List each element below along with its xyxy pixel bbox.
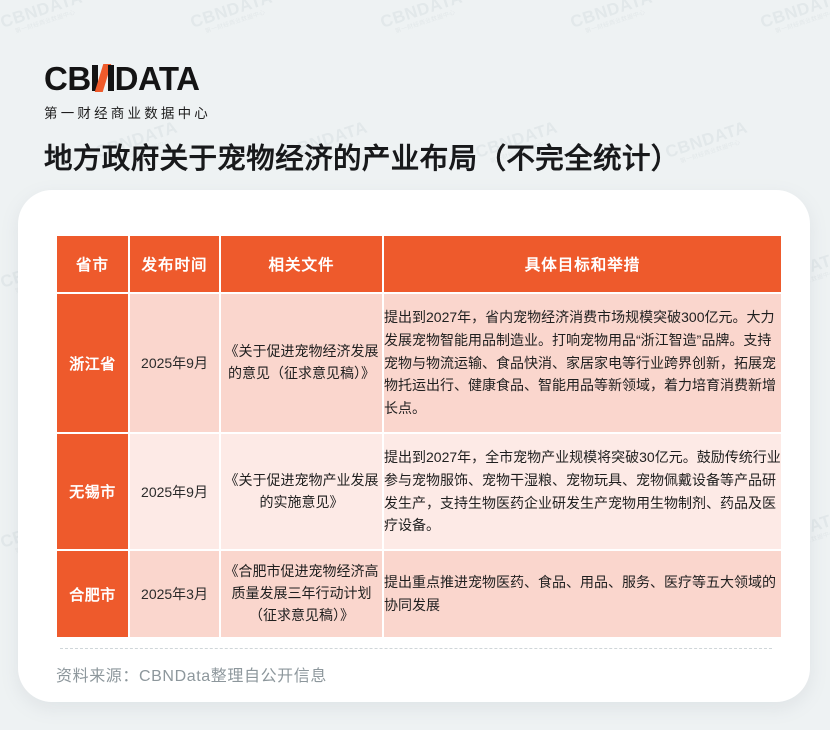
table-row: 无锡市 2025年9月 《关于促进宠物产业发展的实施意见》 提出到2027年，全… [57,432,781,549]
policy-table: 省市 发布时间 相关文件 具体目标和举措 浙江省 2025年9月 《关于促进宠物… [57,236,781,637]
cell-document: 《合肥市促进宠物经济高质量发展三年行动计划（征求意见稿）》 [221,549,384,637]
cell-province: 浙江省 [57,292,130,432]
column-header-document: 相关文件 [221,236,384,292]
column-header-date: 发布时间 [130,236,221,292]
logo-text-suffix: DATA [115,62,200,95]
cell-measures: 提出到2027年，省内宠物经济消费市场规模突破300亿元。大力发展宠物智能用品制… [384,292,781,432]
logo-wordmark: CB DATA [44,62,211,95]
cell-document: 《关于促进宠物产业发展的实施意见》 [221,432,384,549]
cell-measures: 提出到2027年，全市宠物产业规模将突破30亿元。鼓励传统行业参与宠物服饰、宠物… [384,432,781,549]
column-header-measures: 具体目标和举措 [384,236,781,292]
cell-date: 2025年9月 [130,432,221,549]
table-row: 合肥市 2025年3月 《合肥市促进宠物经济高质量发展三年行动计划（征求意见稿）… [57,549,781,637]
table-row: 浙江省 2025年9月 《关于促进宠物经济发展的意见（征求意见稿）》 提出到20… [57,292,781,432]
table-header-row: 省市 发布时间 相关文件 具体目标和举措 [57,236,781,292]
page-root: CB DATA 第一财经商业数据中心 地方政府关于宠物经济的产业布局（不完全统计… [0,0,830,730]
cell-province: 无锡市 [57,432,130,549]
page-title: 地方政府关于宠物经济的产业布局（不完全统计） [44,136,680,177]
table-header: 省市 发布时间 相关文件 具体目标和举措 [57,236,781,292]
cell-date: 2025年9月 [130,292,221,432]
logo-n-icon [92,65,114,91]
cell-date: 2025年3月 [130,549,221,637]
cell-measures: 提出重点推进宠物医药、食品、用品、服务、医疗等五大领域的协同发展 [384,549,781,637]
content-card: 省市 发布时间 相关文件 具体目标和举措 浙江省 2025年9月 《关于促进宠物… [18,190,810,702]
source-divider [60,648,772,649]
cell-document: 《关于促进宠物经济发展的意见（征求意见稿）》 [221,292,384,432]
cell-province: 合肥市 [57,549,130,637]
brand-logo: CB DATA 第一财经商业数据中心 [44,62,211,122]
logo-text-prefix: CB [44,62,91,95]
logo-subtitle: 第一财经商业数据中心 [44,102,211,122]
source-note: 资料来源：CBNData整理自公开信息 [56,662,327,686]
column-header-province: 省市 [57,236,130,292]
table-body: 浙江省 2025年9月 《关于促进宠物经济发展的意见（征求意见稿）》 提出到20… [57,292,781,637]
